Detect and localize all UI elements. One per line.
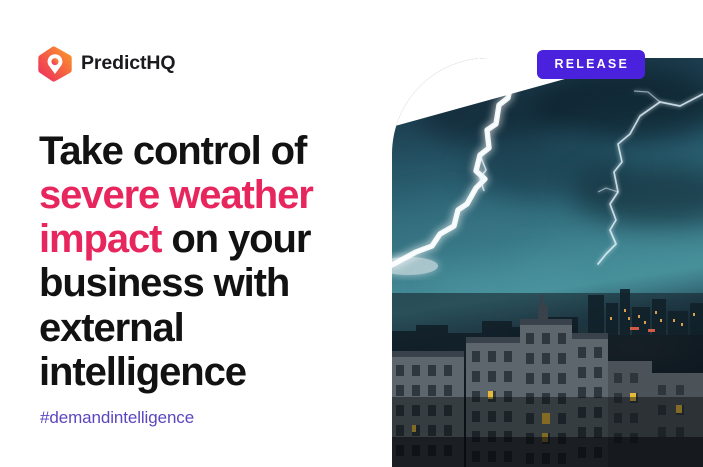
headline-line-3-accent: impact <box>39 217 161 261</box>
headline-line-6: intelligence <box>39 350 246 394</box>
headline-line-1: Take control of <box>39 129 306 173</box>
promo-banner: PredictHQ RELEASE Take control of severe… <box>0 0 703 467</box>
hashtag-label[interactable]: #demandintelligence <box>40 408 194 428</box>
page-title: Take control of severe weather impact on… <box>39 129 379 394</box>
release-badge[interactable]: RELEASE <box>537 50 645 79</box>
hero-image <box>392 58 703 467</box>
headline-line-2-accent: severe weather <box>39 173 313 217</box>
brand-logo[interactable]: PredictHQ <box>38 46 175 82</box>
brand-wordmark: PredictHQ <box>81 54 175 74</box>
storm-sky <box>392 58 703 467</box>
hero-image-inner <box>392 58 703 467</box>
headline-line-4: business with <box>39 261 289 305</box>
predicthq-hexagon-pin-logo-icon <box>38 46 72 82</box>
headline-line-3-rest: on your <box>161 217 310 261</box>
headline-line-5: external <box>39 306 184 350</box>
